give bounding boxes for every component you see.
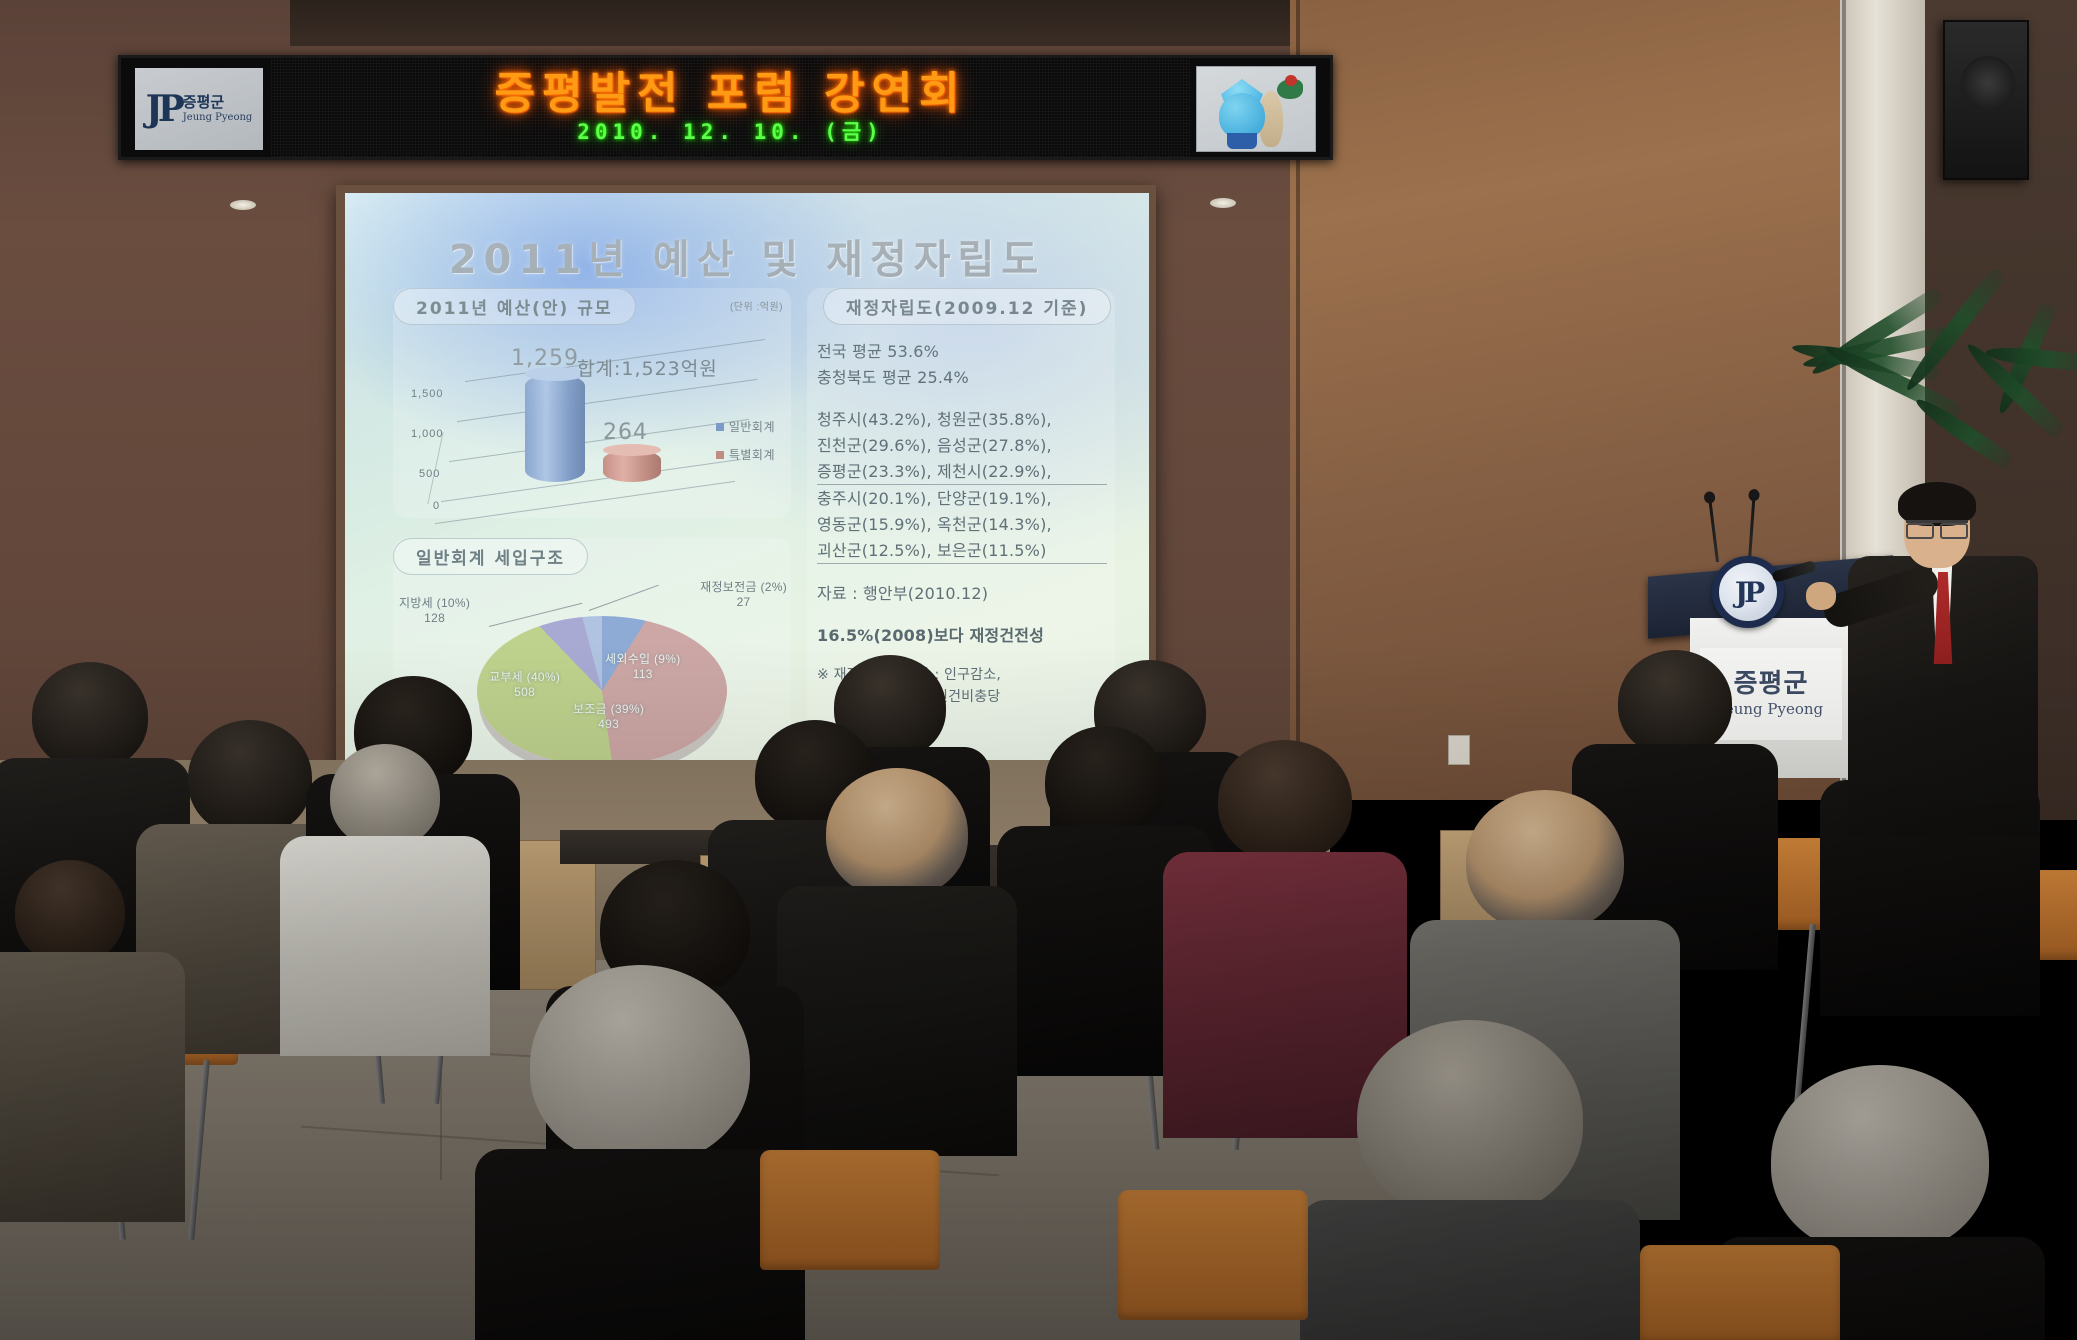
bar-value-special: 264 <box>603 420 648 445</box>
audience-person <box>0 860 170 1220</box>
mascot-legs-icon <box>1227 133 1257 149</box>
audience-chair <box>760 1150 940 1270</box>
logo-roman-name: Jeung Pyeong <box>183 113 253 123</box>
logo-korean-name: 증평군 <box>183 95 253 110</box>
slide-title: 2011년 예산 및 재정자립도 <box>345 227 1149 285</box>
rate-row-5: 영동군(15.9%), 옥천군(14.3%), <box>817 513 1107 537</box>
wall-speaker-box <box>1943 20 2029 180</box>
audience-person <box>290 744 480 1044</box>
ceiling-strip <box>290 0 1290 46</box>
pie-label-subsidy: 보조금 (39%) 493 <box>573 702 644 732</box>
y-tick-1000: 1,000 <box>411 428 444 440</box>
data-source: 자료 : 행안부(2010.12) <box>817 582 1107 606</box>
pie-leader-line <box>589 585 659 611</box>
ceiling-light <box>1210 198 1236 208</box>
bar-special-account <box>603 450 661 482</box>
legend-swatch-icon <box>716 423 724 431</box>
bar-chart-legend: 일반회계 특별회계 <box>716 418 775 474</box>
y-tick-1500: 1,500 <box>411 388 444 400</box>
rate-row-4: 충주시(20.1%), 단양군(19.1%), <box>817 487 1107 511</box>
province-average: 충청북도 평균 25.4% <box>817 366 1107 390</box>
led-banner: JP 증평군 Jeung Pyeong 증평발전 포럼 강연회 2010. 12… <box>118 55 1333 160</box>
audience-person <box>490 965 790 1340</box>
potted-palm-plant <box>1790 255 2077 585</box>
banner-county-logo: JP 증평군 Jeung Pyeong <box>135 68 263 150</box>
podium-emblem-mark: JP <box>1735 576 1761 609</box>
audience-chair <box>1640 1245 1840 1340</box>
rate-row-3: 증평군(23.3%), 제천시(22.9%), <box>817 460 1107 485</box>
mascot-berry-icon <box>1285 75 1297 86</box>
bar-value-general: 1,259 <box>511 346 579 371</box>
legend-label-general: 일반회계 <box>729 418 775 435</box>
bar-total-annotation: 합계:1,523억원 <box>577 354 718 381</box>
legend-item-general: 일반회계 <box>716 418 775 435</box>
lecture-hall-photo: JP 증평군 Jeung Pyeong 증평발전 포럼 강연회 2010. 12… <box>0 0 2077 1340</box>
bar-chart-plot: 1,500 1,000 500 0 1,259 264 합계:1,523억원 <box>407 340 779 512</box>
rate-row-1: 청주시(43.2%), 청원군(35.8%), <box>817 408 1107 432</box>
bar-chart-heading: 2011년 예산(안) 규모 <box>393 288 636 325</box>
y-tick-0: 0 <box>433 500 440 512</box>
led-display: 증평발전 포럼 강연회 2010. 12. 10. (금) <box>271 58 1190 157</box>
y-tick-500: 500 <box>419 468 440 480</box>
banner-date-text: 2010. 12. 10. (금) <box>577 122 884 143</box>
legend-item-special: 특별회계 <box>716 446 775 463</box>
bar-general-account <box>525 374 585 482</box>
info-panel-body: 전국 평균 53.6% 충청북도 평균 25.4% 청주시(43.2%), 청원… <box>817 340 1107 709</box>
legend-swatch-icon <box>716 451 724 459</box>
pie-chart-heading: 일반회계 세입구조 <box>393 538 588 575</box>
speaker-hand <box>1806 582 1836 610</box>
pie-label-local-tax: 지방세 (10%) 128 <box>399 596 470 626</box>
highlight-text: 16.5%(2008)보다 재정건전성 <box>817 624 1107 648</box>
audience-person <box>792 768 1002 1128</box>
audience-chair <box>1118 1190 1308 1320</box>
banner-title-text: 증평발전 포럼 강연회 <box>495 72 967 116</box>
rate-row-6: 괴산군(12.5%), 보은군(11.5%) <box>817 539 1107 564</box>
audience-person <box>1320 1020 1620 1340</box>
pie-label-fiscal-subsidy: 재정보전금 (2%) 27 <box>700 580 787 610</box>
pie-label-nontax-revenue: 세외수입 (9%) 113 <box>605 652 681 682</box>
budget-bar-chart-panel: 2011년 예산(안) 규모 (단위 :억원) 1,500 1,000 500 … <box>393 288 791 518</box>
info-panel-heading: 재정자립도(2009.12 기준) <box>823 288 1111 325</box>
wall-outlet <box>1448 735 1470 765</box>
podium-emblem-icon: JP <box>1712 556 1784 628</box>
pie-chart-graphic: 교부세 (40%) 508 보조금 (39%) 493 세외수입 (9%) 11… <box>477 616 727 766</box>
national-average: 전국 평균 53.6% <box>817 340 1107 364</box>
ceiling-light <box>230 200 256 210</box>
legend-label-special: 특별회계 <box>729 446 775 463</box>
rate-row-2: 진천군(29.6%), 음성군(27.8%), <box>817 434 1107 458</box>
bar-chart-unit-note: (단위 :억원) <box>730 298 783 313</box>
mascot-panel <box>1196 66 1316 152</box>
logo-jp-mark: JP <box>146 93 180 125</box>
